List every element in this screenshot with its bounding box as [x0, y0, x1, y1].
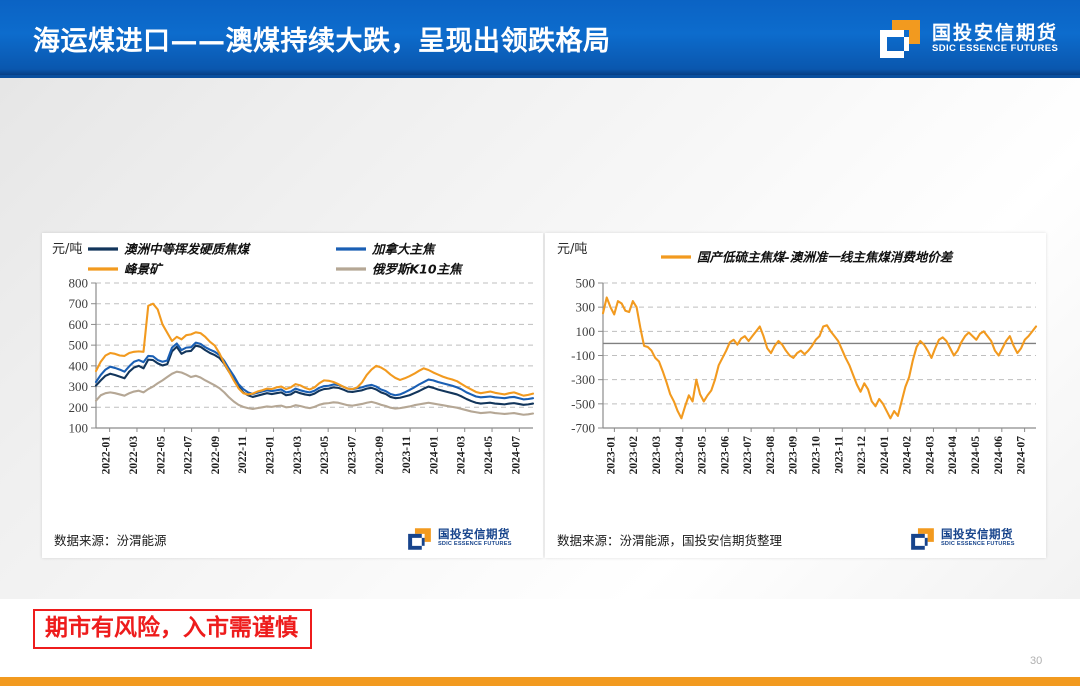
- svg-text:600: 600: [69, 317, 89, 332]
- svg-text:2023-10: 2023-10: [811, 436, 823, 475]
- svg-text:2024-05: 2024-05: [483, 436, 495, 475]
- svg-text:800: 800: [69, 276, 89, 291]
- svg-text:2024-06: 2024-06: [993, 436, 1005, 475]
- slide-body: 元/吨澳洲中等挥发硬质焦煤加拿大主焦峰景矿俄罗斯K10主焦10020030040…: [0, 78, 1080, 599]
- bottom-accent-bar: [0, 677, 1080, 686]
- svg-text:2024-04: 2024-04: [947, 436, 959, 475]
- svg-text:300: 300: [576, 300, 596, 315]
- svg-text:500: 500: [576, 276, 596, 291]
- brand-logo: 国投安信期货 SDIC ESSENCE FUTURES: [878, 17, 1058, 63]
- svg-text:2023-08: 2023-08: [765, 436, 777, 475]
- svg-text:2024-03: 2024-03: [456, 436, 468, 475]
- svg-text:-100: -100: [571, 348, 595, 363]
- svg-text:2022-03: 2022-03: [128, 436, 140, 475]
- svg-text:2023-11: 2023-11: [401, 436, 413, 474]
- svg-text:加拿大主焦: 加拿大主焦: [371, 242, 437, 257]
- svg-text:2024-02: 2024-02: [902, 436, 914, 475]
- chart-left-source-row: 数据来源：汾渭能源 国投安信期货 SDIC ESSENCE FUTURES: [42, 524, 543, 558]
- svg-text:2024-01: 2024-01: [428, 436, 440, 475]
- svg-text:-700: -700: [571, 421, 595, 436]
- svg-text:2022-09: 2022-09: [210, 436, 222, 475]
- risk-disclaimer: 期市有风险，入市需谨慎: [33, 609, 312, 649]
- chart-left: 元/吨澳洲中等挥发硬质焦煤加拿大主焦峰景矿俄罗斯K10主焦10020030040…: [42, 233, 543, 524]
- logo-text-en: SDIC ESSENCE FUTURES: [932, 43, 1058, 54]
- svg-text:2022-01: 2022-01: [101, 436, 113, 475]
- svg-text:700: 700: [69, 296, 89, 311]
- svg-text:2023-06: 2023-06: [719, 436, 731, 475]
- logo-text-en: SDIC ESSENCE FUTURES: [941, 541, 1015, 547]
- svg-text:峰景矿: 峰景矿: [124, 262, 164, 277]
- svg-text:2023-07: 2023-07: [742, 436, 754, 475]
- svg-text:2024-07: 2024-07: [1016, 436, 1028, 475]
- svg-text:300: 300: [69, 379, 89, 394]
- svg-text:2024-05: 2024-05: [970, 436, 982, 475]
- svg-text:500: 500: [69, 338, 89, 353]
- svg-text:2022-05: 2022-05: [155, 436, 167, 475]
- svg-text:元/吨: 元/吨: [557, 242, 587, 257]
- svg-text:2023-12: 2023-12: [856, 436, 868, 475]
- chart-right-source-row: 数据来源：汾渭能源，国投安信期货整理 国投安信期货 SDIC ESSENCE F…: [545, 524, 1046, 558]
- svg-text:2023-03: 2023-03: [292, 436, 304, 475]
- svg-text:2023-05: 2023-05: [319, 436, 331, 475]
- svg-text:2023-09: 2023-09: [788, 436, 800, 475]
- svg-text:2023-01: 2023-01: [265, 436, 277, 475]
- svg-text:俄罗斯K10主焦: 俄罗斯K10主焦: [372, 262, 464, 277]
- svg-text:2022-11: 2022-11: [237, 436, 249, 474]
- logo-text-cn: 国投安信期货: [438, 526, 510, 542]
- svg-text:2022-07: 2022-07: [183, 436, 195, 475]
- svg-text:2023-03: 2023-03: [651, 436, 663, 475]
- svg-text:2023-02: 2023-02: [628, 436, 640, 475]
- chart-right-source-text: 数据来源：汾渭能源，国投安信期货整理: [557, 530, 782, 549]
- page-title: 海运煤进口——澳煤持续大跌，呈现出领跌格局: [33, 19, 611, 58]
- svg-text:100: 100: [576, 324, 596, 339]
- svg-text:100: 100: [69, 421, 89, 436]
- slide-header: 海运煤进口——澳煤持续大跌，呈现出领跌格局 国投安信期货 SDIC ESSENC…: [0, 0, 1080, 78]
- logo-mark-icon: [910, 527, 935, 551]
- chart-right-logo: 国投安信期货 SDIC ESSENCE FUTURES: [910, 526, 1038, 552]
- svg-text:2024-01: 2024-01: [879, 436, 891, 475]
- logo-text-cn: 国投安信期货: [932, 18, 1058, 45]
- chart-left-source-text: 数据来源：汾渭能源: [54, 530, 167, 549]
- logo-text-en: SDIC ESSENCE FUTURES: [438, 541, 512, 547]
- svg-text:国产低硫主焦煤-澳洲准一线主焦煤消费地价差: 国产低硫主焦煤-澳洲准一线主焦煤消费地价差: [697, 250, 954, 265]
- svg-text:2024-07: 2024-07: [510, 436, 522, 475]
- logo-mark-icon: [878, 18, 922, 60]
- svg-text:2023-05: 2023-05: [697, 436, 709, 475]
- page-number: 30: [1030, 655, 1042, 667]
- svg-text:2023-04: 2023-04: [674, 436, 686, 475]
- svg-text:-300: -300: [571, 372, 595, 387]
- logo-mark-icon: [407, 527, 432, 551]
- chart-right: 元/吨国产低硫主焦煤-澳洲准一线主焦煤消费地价差-700-500-300-100…: [545, 233, 1046, 524]
- svg-text:澳洲中等挥发硬质焦煤: 澳洲中等挥发硬质焦煤: [124, 242, 252, 257]
- chart-left-logo: 国投安信期货 SDIC ESSENCE FUTURES: [407, 526, 535, 552]
- logo-text-cn: 国投安信期货: [941, 526, 1013, 542]
- svg-text:元/吨: 元/吨: [52, 242, 82, 257]
- svg-text:2023-07: 2023-07: [346, 436, 358, 475]
- svg-text:2023-01: 2023-01: [605, 436, 617, 475]
- chart-card-right: 元/吨国产低硫主焦煤-澳洲准一线主焦煤消费地价差-700-500-300-100…: [545, 233, 1046, 558]
- svg-text:400: 400: [69, 358, 89, 373]
- svg-text:-500: -500: [571, 396, 595, 411]
- svg-text:2023-11: 2023-11: [833, 436, 845, 474]
- chart-card-left: 元/吨澳洲中等挥发硬质焦煤加拿大主焦峰景矿俄罗斯K10主焦10020030040…: [42, 233, 543, 558]
- svg-text:2023-09: 2023-09: [374, 436, 386, 475]
- svg-text:200: 200: [69, 400, 89, 415]
- svg-text:2024-03: 2024-03: [924, 436, 936, 475]
